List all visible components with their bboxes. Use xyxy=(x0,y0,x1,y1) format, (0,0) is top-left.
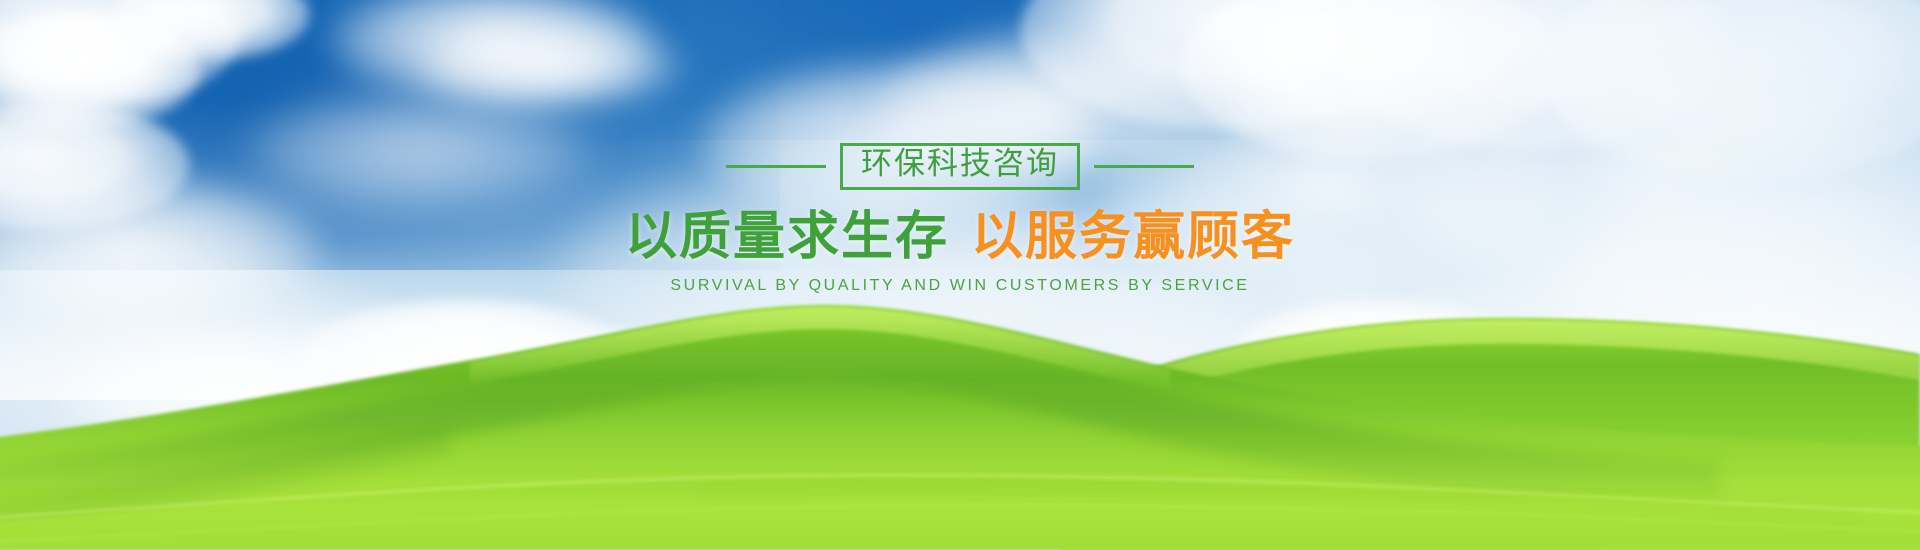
subheadline: SURVIVAL BY QUALITY AND WIN CUSTOMERS BY… xyxy=(0,277,1920,295)
headline-orange: 以服务赢顾客 xyxy=(971,207,1295,267)
sky-deep-blue-mid xyxy=(620,0,1240,140)
headline: 以质量求生存以服务赢顾客 xyxy=(0,210,1920,265)
banner-copy: 环保科技咨询 以质量求生存以服务赢顾客 SURVIVAL BY QUALITY … xyxy=(0,140,1920,295)
eyebrow-label: 环保科技咨询 xyxy=(861,146,1059,182)
eyebrow-row: 环保科技咨询 xyxy=(0,140,1920,192)
headline-green: 以质量求生存 xyxy=(625,207,949,267)
left-rule-icon xyxy=(726,165,826,168)
hero-banner: 环保科技咨询 以质量求生存以服务赢顾客 SURVIVAL BY QUALITY … xyxy=(0,0,1920,550)
grass-hills xyxy=(0,250,1920,550)
right-rule-icon xyxy=(1094,165,1194,168)
eyebrow-box: 环保科技咨询 xyxy=(840,143,1080,190)
